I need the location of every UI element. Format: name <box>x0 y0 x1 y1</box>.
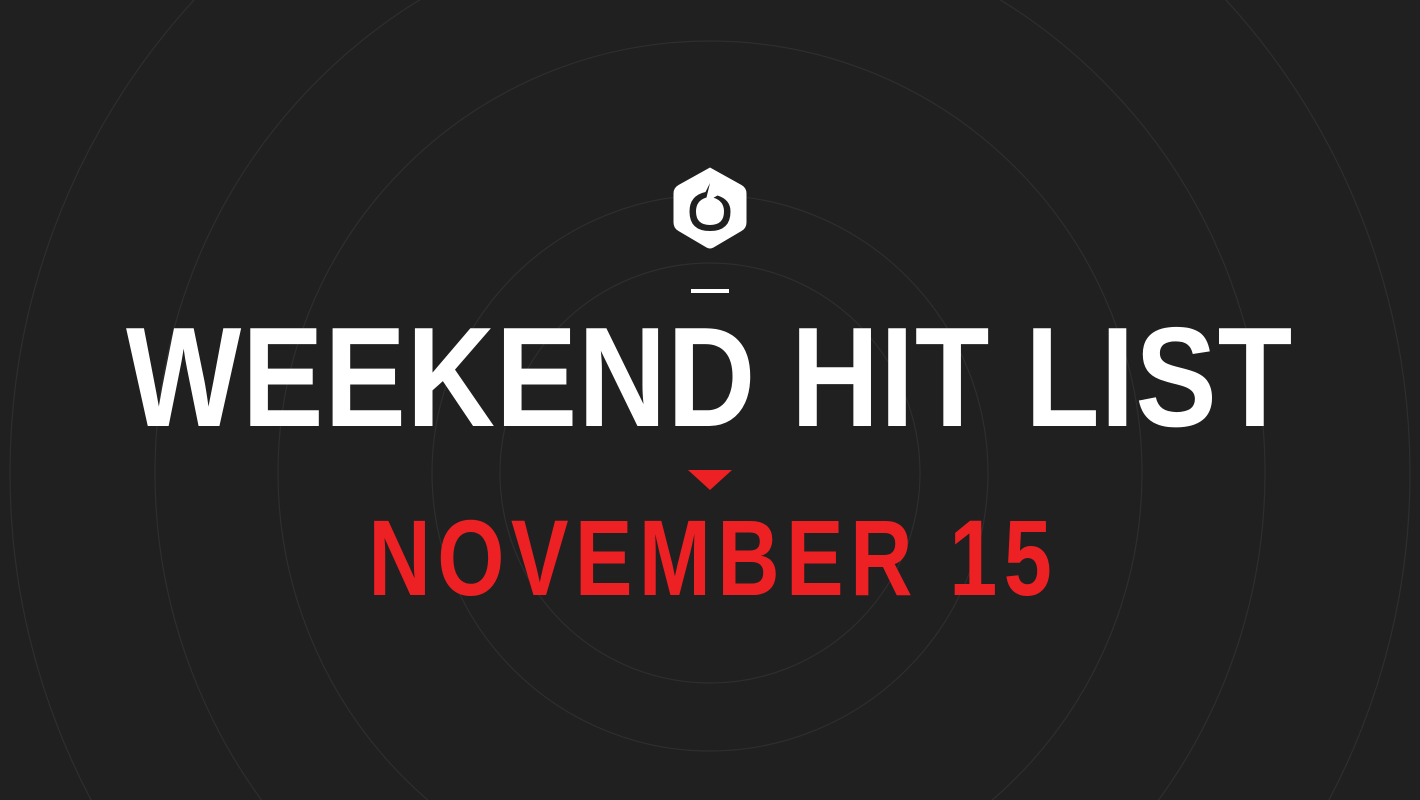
title-rule <box>691 289 729 293</box>
date-label: NOVEMBER 15 <box>362 512 1058 604</box>
page-title: WEEKEND HIT LIST <box>126 320 1293 436</box>
poster-content: WEEKEND HIT LIST NOVEMBER 15 <box>0 0 1420 800</box>
triangle-down-icon <box>688 470 732 490</box>
hexagon-spiral-logo <box>672 166 748 250</box>
poster-canvas: WEEKEND HIT LIST NOVEMBER 15 <box>0 0 1420 800</box>
